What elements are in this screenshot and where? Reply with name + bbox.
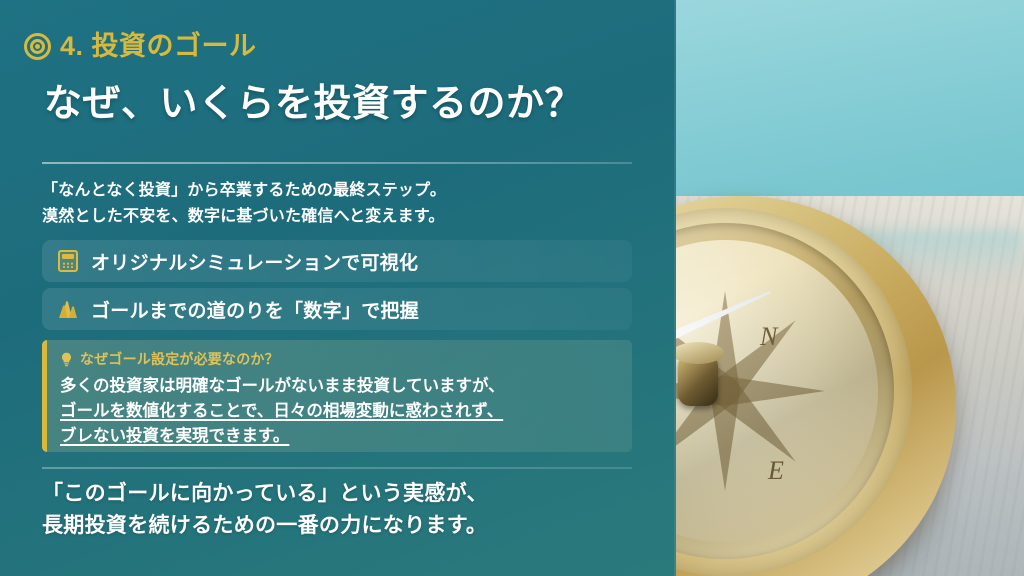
lead-line-2: 漠然とした不安を、数字に基づいた確信へと変えます。 — [42, 204, 642, 230]
list-item-label: ゴールまでの道のりを「数字」で把握 — [91, 296, 419, 323]
callout-heading-row: なぜゴール設定が必要なのか？ — [60, 349, 618, 369]
callout-line-1: 多くの投資家は明確なゴールがないまま投資していますが、 — [60, 374, 618, 399]
calculator-icon — [58, 250, 78, 272]
compass-hub — [678, 354, 718, 406]
content-panel: 4. 投資のゴール なぜ、いくらを投資するのか？ 「なんとなく投資」から卒業する… — [0, 0, 676, 576]
compass: N E N — [676, 196, 986, 576]
mountain-icon — [58, 298, 78, 320]
slide: N E N 4. 投資のゴール なぜ、いくらを投資するのか？ — [0, 0, 1024, 576]
callout-body: 多くの投資家は明確なゴールがないまま投資していますが、 ゴールを数値化することで… — [60, 374, 618, 449]
lead-line-1: 「なんとなく投資」から卒業するための最終ステップ。 — [42, 178, 642, 204]
section-kicker: 4. 投資のゴール — [24, 33, 257, 60]
callout-heading: なぜゴール設定が必要なのか？ — [80, 349, 279, 369]
lightbulb-icon — [60, 352, 73, 367]
callout-line-3: ブレない投資を実現できます。 — [60, 424, 618, 449]
dial-letter-east: E — [768, 456, 784, 486]
feature-list: オリジナルシミュレーションで可視化 ゴールまでの道のりを「数字」で把握 — [42, 240, 632, 336]
divider-bottom — [42, 467, 632, 469]
divider-top — [42, 162, 632, 164]
dial-letter-north: N — [760, 322, 777, 352]
target-icon — [24, 33, 51, 60]
list-item[interactable]: オリジナルシミュレーションで可視化 — [42, 240, 632, 282]
callout-line-2: ゴールを数値化することで、日々の相場変動に惑わされず、 — [60, 399, 618, 424]
compass-photo: N E N — [676, 0, 1024, 576]
list-item[interactable]: ゴールまでの道のりを「数字」で把握 — [42, 288, 632, 330]
closing-line-1: 「このゴールに向かっている」という実感が、 — [42, 478, 642, 510]
closing-line-2: 長期投資を続けるための一番の力になります。 — [42, 510, 642, 542]
compass-brass-case: N E N — [676, 196, 956, 576]
section-kicker-label: 4. 投資のゴール — [60, 33, 257, 60]
list-item-label: オリジナルシミュレーションで可視化 — [91, 248, 418, 275]
lead-paragraph: 「なんとなく投資」から卒業するための最終ステップ。 漠然とした不安を、数字に基づ… — [42, 178, 642, 229]
closing-statement: 「このゴールに向かっている」という実感が、 長期投資を続けるための一番の力になり… — [42, 478, 642, 541]
page-title: なぜ、いくらを投資するのか？ — [44, 82, 644, 128]
callout-box: なぜゴール設定が必要なのか？ 多くの投資家は明確なゴールがないまま投資しています… — [42, 340, 632, 452]
